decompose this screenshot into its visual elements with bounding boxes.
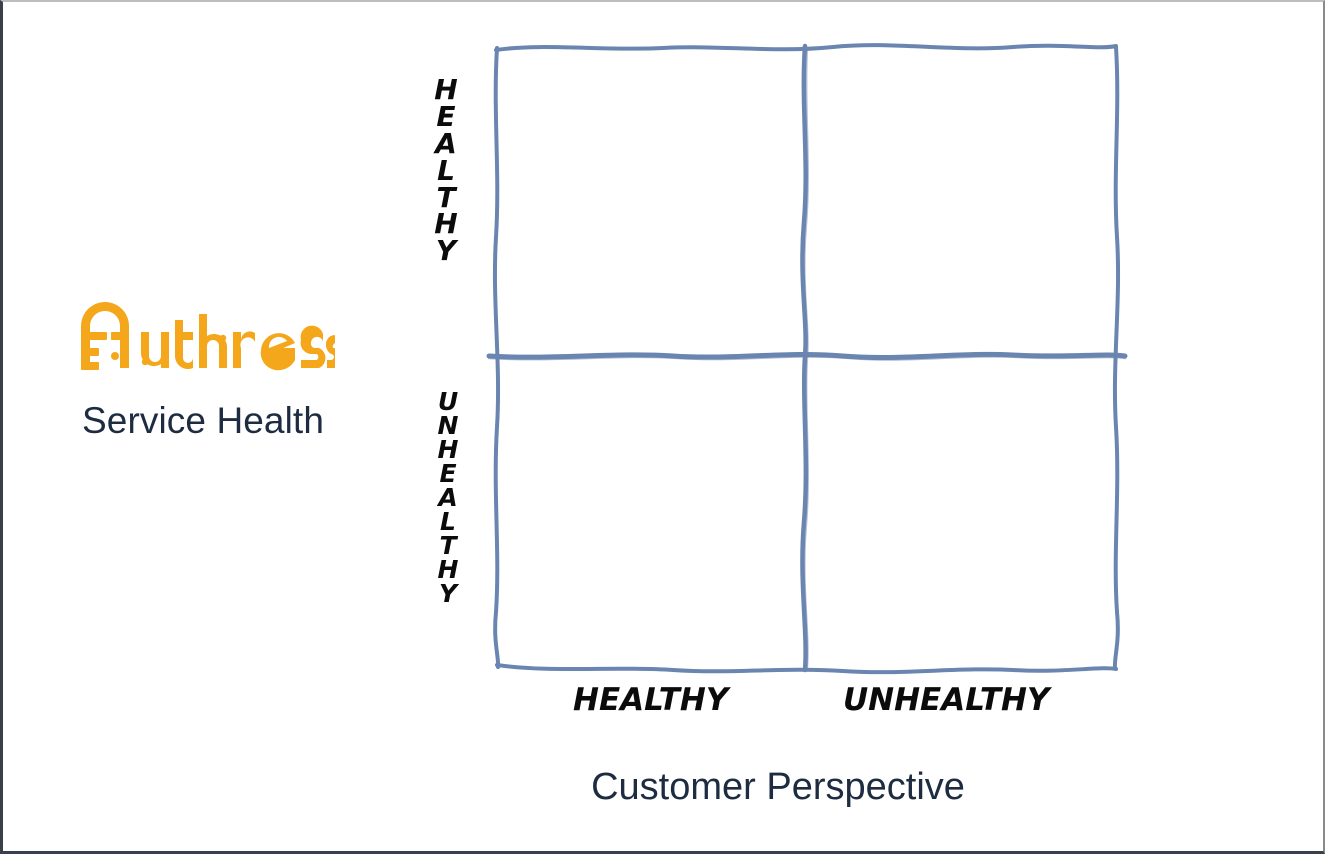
product-title: Service Health	[3, 400, 403, 442]
y-axis-tick-healthy: HEALTHY	[425, 77, 467, 265]
y-axis-tick-unhealthy: UNHEALTHY	[427, 390, 469, 606]
quadrant-grid	[413, 22, 1143, 692]
x-axis-title: Customer Perspective	[413, 766, 1143, 809]
x-axis-tick-healthy: HEALTHY	[573, 682, 728, 718]
brand-block: Service Health	[3, 292, 403, 442]
authress-logo	[3, 292, 403, 384]
slide-canvas: Service Health HEALTH	[0, 0, 1325, 854]
axis-letter: Y	[425, 238, 467, 265]
axis-letter: Y	[427, 582, 469, 606]
x-axis-tick-unhealthy: UNHEALTHY	[843, 682, 1049, 718]
key-a-logo-icon	[75, 296, 335, 384]
quadrant-chart: HEALTHY UNHEALTHY HEALTHY UNHEALTHY	[413, 22, 1143, 692]
